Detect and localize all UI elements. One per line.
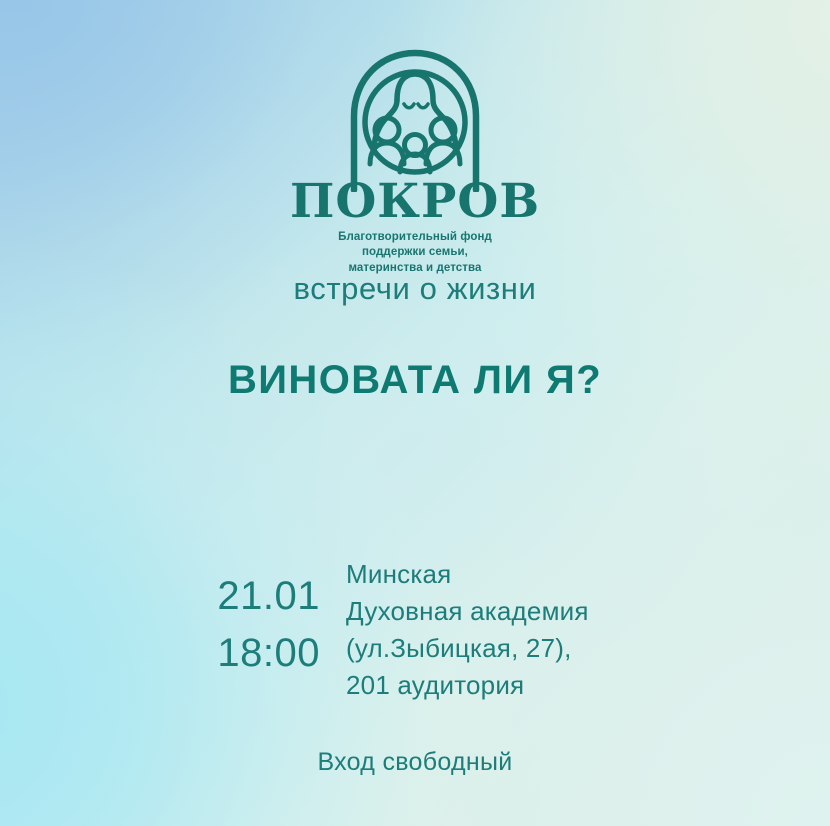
event-details: 21.01 18:00 Минская Духовная академия (у… [0,556,830,704]
page-title: ВИНОВАТА ЛИ Я? [0,358,830,402]
logo-tagline-line: поддержки семьи, [338,245,492,260]
logo-tagline: Благотворительный фонд поддержки семьи, … [338,230,492,276]
poster-content: ПОКРОВ Благотворительный фонд поддержки … [0,0,830,826]
event-datetime: 21.01 18:00 [194,556,320,682]
logo-block: ПОКРОВ Благотворительный фонд поддержки … [0,44,830,276]
logo-wordmark: ПОКРОВ [290,178,540,225]
venue-line: Духовная академия [346,593,636,630]
event-time: 18:00 [194,625,320,682]
venue-line: 201 аудитория [346,667,636,704]
venue-line: Минская [346,556,636,593]
venue-line: (ул.Зыбицкая, 27), [346,630,636,667]
pokrov-family-arch-logo-icon [339,44,491,192]
event-poster: ПОКРОВ Благотворительный фонд поддержки … [0,0,830,826]
event-date: 21.01 [194,568,320,625]
admission-note: Вход свободный [0,748,830,777]
logo-tagline-line: Благотворительный фонд [338,230,492,245]
event-series-label: встречи о жизни [0,272,830,306]
event-venue: Минская Духовная академия (ул.Зыбицкая, … [346,556,636,704]
